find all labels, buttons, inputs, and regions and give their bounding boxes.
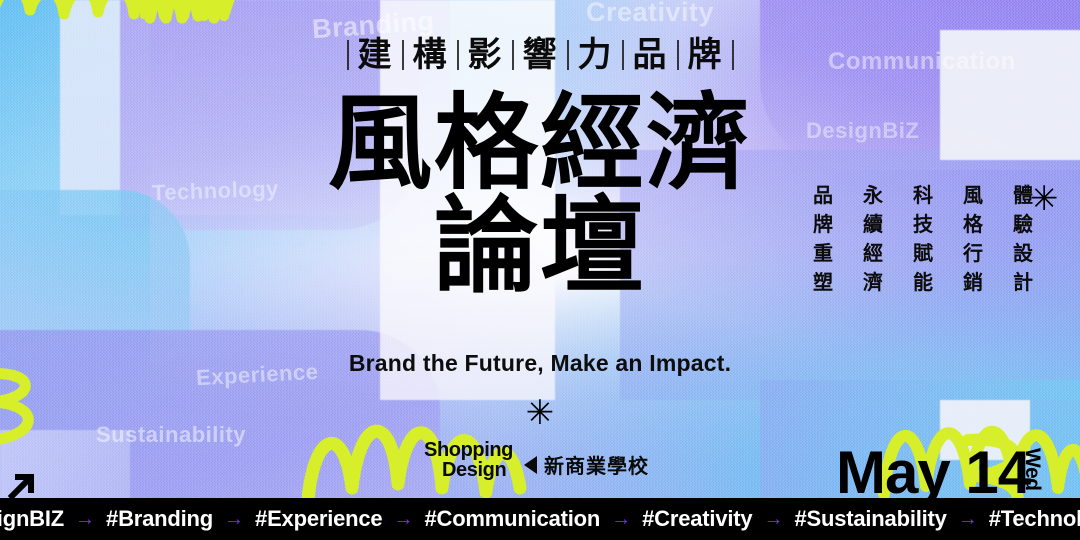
ticker-hashtag[interactable]: #Experience <box>248 506 389 532</box>
keyword-column: 永 續 經 濟 <box>862 186 884 293</box>
arrow-right-icon: → <box>220 508 248 531</box>
keyword-char: 品 <box>812 186 834 206</box>
arrow-right-icon: → <box>71 508 99 531</box>
ticker-hashtag[interactable]: #Technology <box>982 506 1080 532</box>
tagline-char: 影 <box>459 38 512 72</box>
keyword-char: 技 <box>912 215 934 235</box>
watermark-creativity: Creativity <box>586 0 714 28</box>
keyword-char: 塑 <box>812 273 834 293</box>
keyword-column: 風 格 行 銷 <box>962 186 984 293</box>
arrow-right-icon: → <box>607 508 635 531</box>
logo-line-1: Shopping <box>424 440 513 460</box>
keyword-char: 重 <box>812 244 834 264</box>
tagline-char: 力 <box>569 38 622 72</box>
keyword-char: 銷 <box>962 273 984 293</box>
tagline: 建 構 影 響 力 品 牌 <box>0 38 1080 72</box>
triangle-left-icon <box>524 456 537 474</box>
keyword-char: 濟 <box>862 273 884 293</box>
tagline-separator <box>347 40 349 70</box>
keyword-char: 驗 <box>1012 215 1034 235</box>
keyword-char: 賦 <box>912 244 934 264</box>
hashtag-ticker: #DesignBIZ → #Branding → #Experience → #… <box>0 498 1080 540</box>
event-date: May 14 <box>836 443 1030 503</box>
keyword-char: 計 <box>1012 273 1034 293</box>
asterisk-icon: ✳ <box>1030 182 1059 216</box>
keyword-column: 科 技 賦 能 <box>912 186 934 293</box>
logo-line-2: Design <box>424 460 513 480</box>
keyword-grid: 品 牌 重 塑 永 續 經 濟 科 技 賦 能 風 格 行 銷 體 驗 設 計 <box>812 186 1034 293</box>
watermark-sustainability: Sustainability <box>96 422 246 448</box>
keyword-char: 風 <box>962 186 984 206</box>
keyword-char: 行 <box>962 244 984 264</box>
arrow-right-icon: → <box>954 508 982 531</box>
tagline-separator <box>732 40 734 70</box>
poster-canvas: Branding Creativity Communication Design… <box>0 0 1080 540</box>
event-weekday: Wed <box>1020 448 1044 490</box>
school-name: 新商業學校 <box>544 450 649 479</box>
tagline-separator <box>402 40 404 70</box>
keyword-char: 格 <box>962 215 984 235</box>
tagline-char: 響 <box>514 38 567 72</box>
ticker-hashtag[interactable]: #Communication <box>417 506 607 532</box>
shopping-design-logo: Shopping Design <box>424 440 513 481</box>
arrow-right-icon: → <box>759 508 787 531</box>
keyword-char: 牌 <box>812 215 834 235</box>
tagline-char: 建 <box>349 38 402 72</box>
ticker-hashtag[interactable]: #Sustainability <box>787 506 953 532</box>
arrow-right-icon: → <box>389 508 417 531</box>
school-credit: 新商業學校 <box>524 450 649 479</box>
arrow-up-right-icon <box>8 470 38 500</box>
tagline-separator <box>512 40 514 70</box>
ticker-track: #DesignBIZ → #Branding → #Experience → #… <box>0 506 1080 532</box>
title-line-1: 風格經濟 <box>0 96 1080 193</box>
keyword-char: 科 <box>912 186 934 206</box>
tagline-separator <box>457 40 459 70</box>
keyword-char: 能 <box>912 273 934 293</box>
tagline-separator <box>567 40 569 70</box>
asterisk-icon: ✳ <box>526 396 555 430</box>
ticker-hashtag[interactable]: #Branding <box>99 506 220 532</box>
keyword-char: 續 <box>862 215 884 235</box>
ticker-hashtag[interactable]: #Creativity <box>635 506 759 532</box>
keyword-char: 經 <box>862 244 884 264</box>
tagline-char: 構 <box>404 38 457 72</box>
keyword-char: 設 <box>1012 244 1034 264</box>
keyword-char: 永 <box>862 186 884 206</box>
tagline-char: 品 <box>624 38 677 72</box>
tagline-separator <box>677 40 679 70</box>
tagline-separator <box>622 40 624 70</box>
tagline-char: 牌 <box>679 38 732 72</box>
keyword-column: 品 牌 重 塑 <box>812 186 834 293</box>
ticker-hashtag[interactable]: #DesignBIZ <box>0 506 71 532</box>
subtitle: Brand the Future, Make an Impact. <box>0 350 1080 377</box>
